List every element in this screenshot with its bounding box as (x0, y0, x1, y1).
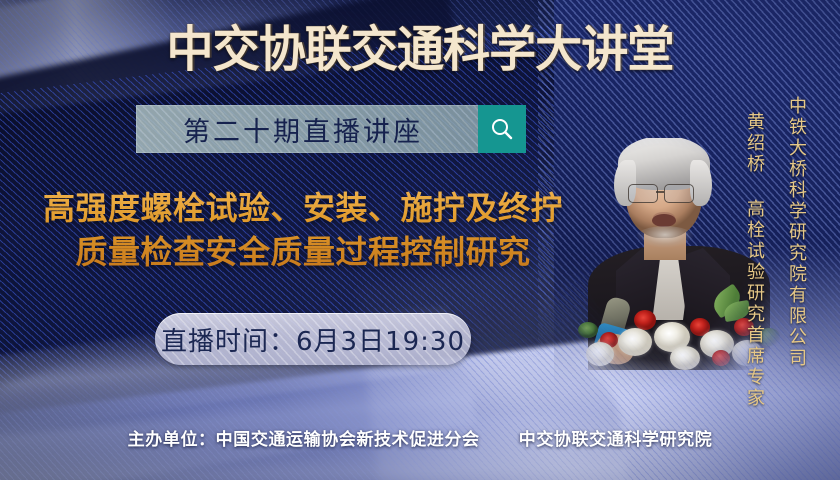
lecture-topic-title: 高强度螺栓试验、安装、施拧及终拧 质量检查安全质量过程控制研究 (8, 186, 598, 274)
speaker-glasses-right-lens (664, 184, 694, 203)
search-button[interactable] (478, 105, 526, 153)
speaker-name-and-role: 黄绍桥 高栓试验研究首席专家 (744, 112, 765, 409)
page-title: 中交协联交通科学大讲堂 (17, 22, 823, 78)
bouquet-white-lily (586, 342, 614, 366)
subtitle-banner: 第二十期直播讲座 (136, 105, 526, 153)
bouquet-red-flower (634, 310, 656, 330)
speaker-glasses-bridge (656, 191, 664, 193)
bouquet-white-lily (670, 346, 700, 370)
lecture-topic-line-2: 质量检查安全质量过程控制研究 (8, 230, 598, 274)
broadcast-time-badge: 直播时间：6月3日19:30 (155, 313, 471, 365)
speaker-glasses-left-lens (628, 184, 658, 203)
lecture-topic-line-1: 高强度螺栓试验、安装、施拧及终拧 (8, 186, 598, 230)
broadcast-time-label: 直播时间：6月3日19:30 (161, 321, 465, 358)
speaker-organization: 中铁大桥科学研究院有限公司 (786, 96, 807, 369)
speaker-beard (636, 226, 694, 248)
bouquet-white-lily (618, 328, 652, 356)
subtitle-label: 第二十期直播讲座 (136, 105, 478, 153)
bouquet-foliage (578, 322, 598, 338)
bouquet-red-flower (712, 350, 730, 366)
search-icon (489, 116, 515, 142)
footer-institute: 中交协联交通科学研究院 (519, 430, 713, 450)
footer-organizer-label: 主办单位：中国交通运输协会新技术促进分会 (128, 430, 480, 450)
live-event-poster: 中交协联交通科学大讲堂 第二十期直播讲座 高强度螺栓试验、安装、施拧及终拧 质量… (0, 0, 840, 480)
footer-organizers: 主办单位：中国交通运输协会新技术促进分会 中交协联交通科学研究院 (0, 425, 840, 450)
